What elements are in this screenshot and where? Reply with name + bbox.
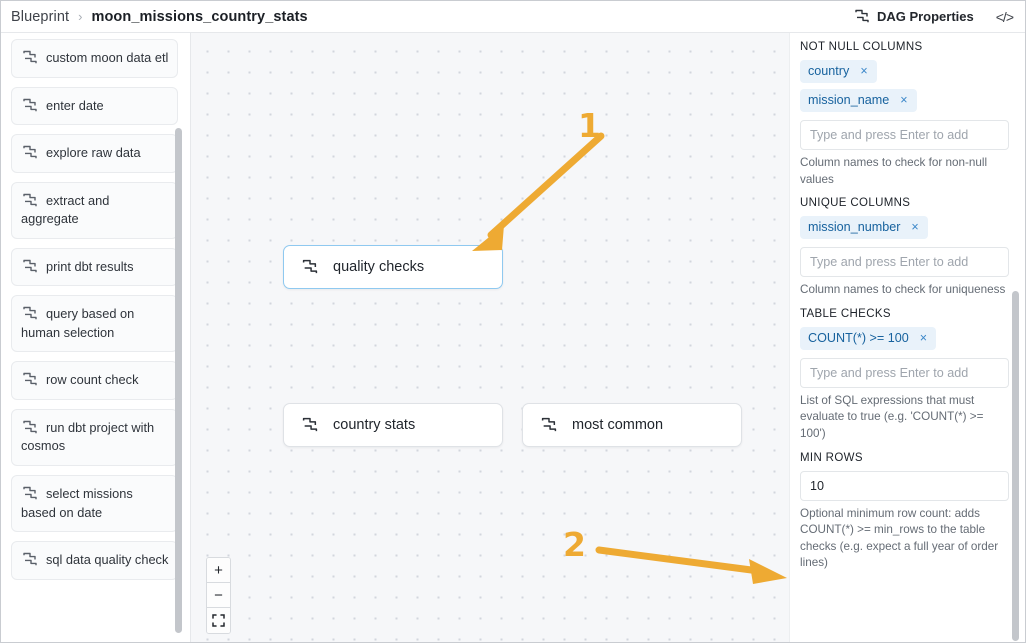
panel-scrollbar-thumb[interactable] bbox=[1012, 291, 1019, 641]
sidebar-item-label: sql data quality check bbox=[46, 552, 168, 567]
properties-panel: NOT NULL COLUMNScountry×mission_name×Col… bbox=[789, 33, 1025, 642]
property-input[interactable] bbox=[800, 120, 1009, 150]
sidebar-item-label: enter date bbox=[46, 98, 104, 113]
property-section: UNIQUE COLUMNSmission_number×Column name… bbox=[800, 197, 1009, 299]
dag-icon bbox=[301, 417, 319, 433]
property-help-text: List of SQL expressions that must evalua… bbox=[800, 393, 1009, 443]
zoom-controls: + − bbox=[206, 557, 231, 634]
property-help-text: Column names to check for non-null value… bbox=[800, 155, 1009, 188]
fit-view-icon bbox=[212, 614, 225, 627]
code-view-icon[interactable]: </> bbox=[996, 9, 1013, 25]
property-help-text: Column names to check for uniqueness bbox=[800, 282, 1009, 299]
dag-properties-button[interactable]: DAG Properties bbox=[854, 9, 974, 24]
header-bar: Blueprint › moon_missions_country_stats … bbox=[1, 1, 1025, 33]
dag-canvas[interactable]: quality checks country stats bbox=[191, 33, 789, 642]
property-section-title: TABLE CHECKS bbox=[800, 308, 1009, 320]
property-chip-label: country bbox=[808, 64, 849, 78]
property-section-title: UNIQUE COLUMNS bbox=[800, 197, 1009, 209]
sidebar-item[interactable]: extract and aggregate bbox=[11, 182, 178, 239]
remove-chip-icon[interactable]: × bbox=[920, 332, 927, 345]
sidebar-item-label: row count check bbox=[46, 372, 138, 387]
sidebar-item-label: print dbt results bbox=[46, 259, 134, 274]
sidebar-item[interactable]: print dbt results bbox=[11, 248, 178, 287]
sidebar-scroll-region[interactable]: custom moon data etlenter dateexplore ra… bbox=[1, 33, 190, 642]
remove-chip-icon[interactable]: × bbox=[900, 94, 907, 107]
sidebar-item[interactable]: run dbt project with cosmos bbox=[11, 409, 178, 466]
blueprint-app: Blueprint › moon_missions_country_stats … bbox=[0, 0, 1026, 643]
dag-node-most-common[interactable]: most common bbox=[522, 403, 742, 447]
dag-edges bbox=[191, 33, 491, 183]
property-chip: mission_name× bbox=[800, 89, 917, 112]
property-chip-label: mission_number bbox=[808, 220, 900, 234]
sidebar-item[interactable]: sql data quality check bbox=[11, 541, 178, 580]
sidebar-scrollbar-thumb[interactable] bbox=[175, 128, 182, 633]
dag-properties-label: DAG Properties bbox=[877, 9, 974, 24]
dag-node-quality-checks[interactable]: quality checks bbox=[283, 245, 503, 289]
dag-icon bbox=[22, 50, 38, 65]
dag-icon bbox=[22, 98, 38, 113]
sidebar-scrollbar-track[interactable] bbox=[179, 33, 186, 642]
sidebar-item-label: explore raw data bbox=[46, 145, 141, 160]
property-chip-label: mission_name bbox=[808, 93, 889, 107]
property-chip: country× bbox=[800, 60, 877, 83]
property-input[interactable] bbox=[800, 247, 1009, 277]
property-chip: COUNT(*) >= 100× bbox=[800, 327, 936, 350]
property-section: NOT NULL COLUMNScountry×mission_name×Col… bbox=[800, 41, 1009, 188]
dag-icon bbox=[22, 259, 38, 274]
sidebar-item[interactable]: row count check bbox=[11, 361, 178, 400]
property-chip-label: COUNT(*) >= 100 bbox=[808, 331, 909, 345]
remove-chip-icon[interactable]: × bbox=[860, 65, 867, 78]
sidebar-item[interactable]: custom moon data etl bbox=[11, 39, 178, 78]
remove-chip-icon[interactable]: × bbox=[911, 221, 918, 234]
sidebar-item[interactable]: enter date bbox=[11, 87, 178, 126]
dag-icon bbox=[22, 420, 38, 435]
property-help-text: Optional minimum row count: adds COUNT(*… bbox=[800, 506, 1009, 572]
dag-icon bbox=[854, 9, 870, 24]
breadcrumb-root[interactable]: Blueprint bbox=[11, 9, 69, 25]
sidebar-item[interactable]: explore raw data bbox=[11, 134, 178, 173]
annotation-number-2: 2 bbox=[563, 528, 586, 561]
annotation-arrow-2 bbox=[581, 518, 789, 598]
sidebar-item[interactable]: query based on human selection bbox=[11, 295, 178, 352]
dag-node-label: country stats bbox=[333, 417, 415, 433]
dag-icon bbox=[22, 306, 38, 321]
dag-node-country-stats[interactable]: country stats bbox=[283, 403, 503, 447]
dag-node-label: most common bbox=[572, 417, 663, 433]
panel-scrollbar-track[interactable] bbox=[1015, 33, 1022, 642]
dag-icon bbox=[22, 552, 38, 567]
dag-icon bbox=[22, 372, 38, 387]
annotation-number-1: 1 bbox=[578, 109, 601, 142]
sidebar-item-label: custom moon data etl bbox=[46, 50, 168, 65]
zoom-in-button[interactable]: + bbox=[207, 558, 230, 583]
dag-icon bbox=[22, 145, 38, 160]
property-section: MIN ROWSOptional minimum row count: adds… bbox=[800, 452, 1009, 572]
dag-node-label: quality checks bbox=[333, 259, 424, 275]
task-sidebar: custom moon data etlenter dateexplore ra… bbox=[1, 33, 191, 642]
property-input[interactable] bbox=[800, 471, 1009, 501]
fit-view-button[interactable] bbox=[207, 608, 230, 633]
zoom-out-button[interactable]: − bbox=[207, 583, 230, 608]
dag-icon bbox=[540, 417, 558, 433]
dag-icon bbox=[301, 259, 319, 275]
sidebar-item-label: run dbt project with cosmos bbox=[21, 420, 154, 454]
property-section: TABLE CHECKSCOUNT(*) >= 100×List of SQL … bbox=[800, 308, 1009, 443]
sidebar-item[interactable]: select missions based on date bbox=[11, 475, 178, 532]
dag-icon bbox=[22, 193, 38, 208]
property-chip: mission_number× bbox=[800, 216, 928, 239]
property-section-title: NOT NULL COLUMNS bbox=[800, 41, 1009, 53]
property-input[interactable] bbox=[800, 358, 1009, 388]
properties-scroll-region[interactable]: NOT NULL COLUMNScountry×mission_name×Col… bbox=[790, 33, 1025, 642]
page-title: moon_missions_country_stats bbox=[91, 9, 307, 25]
app-body: custom moon data etlenter dateexplore ra… bbox=[1, 33, 1025, 642]
property-section-title: MIN ROWS bbox=[800, 452, 1009, 464]
dag-icon bbox=[22, 486, 38, 501]
chevron-right-icon: › bbox=[78, 9, 82, 24]
